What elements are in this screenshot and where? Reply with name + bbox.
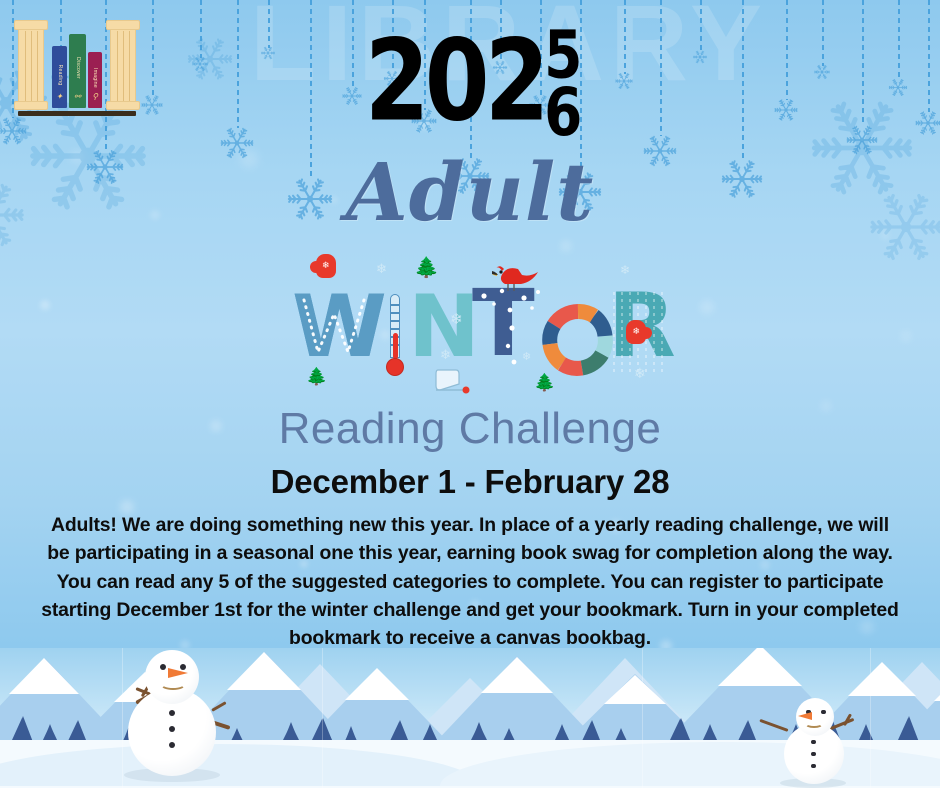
winter-reading-challenge-poster: LIBRARY Reading ✦ Discover ⚯ Imagine ⚲ 2… (0, 0, 940, 788)
snowman-left (112, 650, 232, 782)
pine-branch-icon: 🌲 (534, 374, 555, 391)
carrot-nose-icon (168, 668, 188, 678)
pine-tree-top (670, 719, 690, 740)
pine-tree-top (470, 724, 488, 742)
snowflake-icon: ❄ (522, 352, 531, 363)
carrot-nose-icon (798, 712, 812, 720)
winter-landscape-scene (0, 648, 940, 788)
pine-tree-top (898, 718, 918, 740)
mountain-snowcap (718, 648, 802, 686)
mountain-snowcap (481, 657, 553, 693)
mountain-snowcap (345, 668, 409, 700)
pine-tree-top (582, 722, 600, 741)
thermometer-icon (386, 294, 404, 376)
winter-wordart: W N T (0, 256, 940, 406)
snowflake-icon: ❄ (450, 312, 463, 327)
letter-w: W (292, 284, 387, 370)
snowflake-icon: ❄ (376, 262, 387, 275)
pine-branch-icon: 🌲 (414, 258, 439, 278)
mountain-snowcap (604, 675, 666, 704)
snowflake-icon: ❄ (620, 264, 630, 276)
body-paragraph: Adults! We are doing something new this … (38, 511, 902, 653)
mountain-snowcap (9, 658, 79, 694)
mountain-snowcap (934, 670, 940, 701)
snowflake-icon: ❄ (440, 348, 451, 361)
snowman-right (770, 688, 856, 788)
audience-heading: Adult (0, 152, 940, 232)
snowflake-icon: ❄ (634, 366, 646, 380)
year-main: 202 (364, 28, 544, 135)
bokeh-dot (560, 240, 572, 252)
pine-tree-top (68, 722, 86, 741)
mitten-icon: ❄ (626, 320, 646, 344)
pine-tree-top (12, 718, 32, 740)
mitten-icon: ❄ (316, 254, 336, 278)
date-range: December 1 - February 28 (0, 463, 940, 501)
pine-tree-top (282, 724, 300, 742)
pine-tree-top (390, 722, 408, 741)
pine-branch-icon: 🌲 (306, 368, 327, 385)
pine-tree-top (738, 722, 756, 741)
ice-skate-icon (432, 368, 474, 396)
cardinal-bird-icon (488, 260, 542, 294)
scarf-letter-e-icon (542, 304, 614, 376)
scene-seam (322, 648, 323, 788)
scene-seam (870, 648, 871, 788)
year-bottom-digit: 6 (544, 84, 579, 142)
scene-seam (642, 648, 643, 788)
mountain-snowcap (227, 652, 301, 690)
year-stacked: 56 (544, 26, 579, 142)
year-heading: 20256 (0, 28, 940, 125)
subtitle-reading-challenge: Reading Challenge (0, 404, 940, 454)
